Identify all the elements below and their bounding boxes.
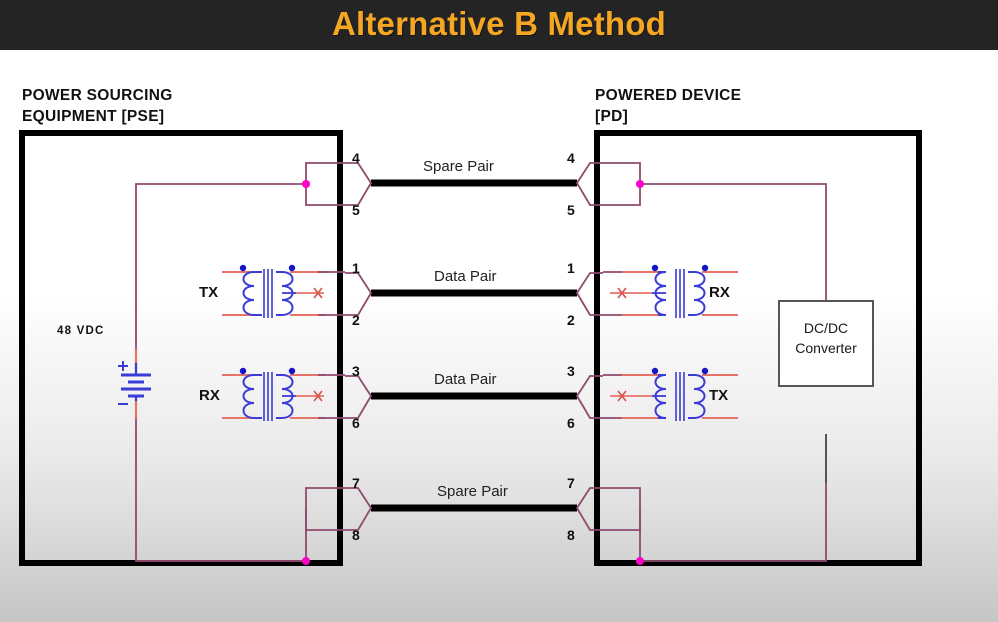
battery-symbol-48vdc <box>118 349 151 419</box>
cable-label-spare-pair-top: Spare Pair <box>423 158 494 175</box>
transformer-label-pse-rx: RX <box>199 387 220 404</box>
pse-connector-wedge-78 <box>345 488 371 530</box>
dcdc-converter-label: DC/DC Converter <box>779 318 873 358</box>
junction-dot-pse-top <box>302 180 310 188</box>
junction-dot-pse-bottom <box>302 557 310 565</box>
cable-label-spare-pair-bottom: Spare Pair <box>437 483 508 500</box>
pin-label-pd-8: 8 <box>567 527 575 543</box>
pin-label-pd-2: 2 <box>567 312 575 328</box>
pin-label-pse-5: 5 <box>352 202 360 218</box>
junction-dot-pd-top <box>636 180 644 188</box>
transformer-label-pd-rx: RX <box>709 284 730 301</box>
transformer-pse-tx <box>222 265 345 318</box>
pse-connector-wedge-36 <box>345 376 371 418</box>
pin-label-pd-4: 4 <box>567 150 575 166</box>
slide-root: Alternative B Method POWER SOURCING EQUI… <box>0 0 998 622</box>
pd-spare-loop-top <box>603 163 640 205</box>
transformer-label-pd-tx: TX <box>709 387 728 404</box>
cable-label-data-pair-lower: Data Pair <box>434 371 497 388</box>
cable-label-data-pair-upper: Data Pair <box>434 268 497 285</box>
pin-label-pse-4: 4 <box>352 150 360 166</box>
pin-label-pd-6: 6 <box>567 415 575 431</box>
page-title: Alternative B Method <box>0 0 998 50</box>
supply-label-48vdc: 48 VDC <box>57 325 104 337</box>
pse-power-wire-positive <box>136 184 306 369</box>
pin-label-pse-3: 3 <box>352 363 360 379</box>
pin-label-pse-6: 6 <box>352 415 360 431</box>
pse-connector-wedge-45 <box>345 163 371 205</box>
pin-label-pse-8: 8 <box>352 527 360 543</box>
pin-label-pd-1: 1 <box>567 260 575 276</box>
pd-spare-loop-bottom <box>603 488 640 530</box>
pse-enclosure-box <box>22 133 340 563</box>
pd-power-wire-negative <box>640 434 826 561</box>
diagram-canvas: POWER SOURCING EQUIPMENT [PSE] POWERED D… <box>0 53 998 622</box>
pse-power-wire-negative <box>136 402 306 561</box>
pin-label-pd-5: 5 <box>567 202 575 218</box>
transformer-label-pse-tx: TX <box>199 284 218 301</box>
transformer-pse-rx <box>222 368 345 421</box>
pin-label-pse-2: 2 <box>352 312 360 328</box>
pin-label-pse-1: 1 <box>352 260 360 276</box>
pin-label-pd-7: 7 <box>567 475 575 491</box>
title-bar: Alternative B Method <box>0 0 998 50</box>
pse-connector-wedge-12 <box>345 273 371 315</box>
pin-label-pse-7: 7 <box>352 475 360 491</box>
junction-dot-pd-bottom <box>636 557 644 565</box>
pin-label-pd-3: 3 <box>567 363 575 379</box>
